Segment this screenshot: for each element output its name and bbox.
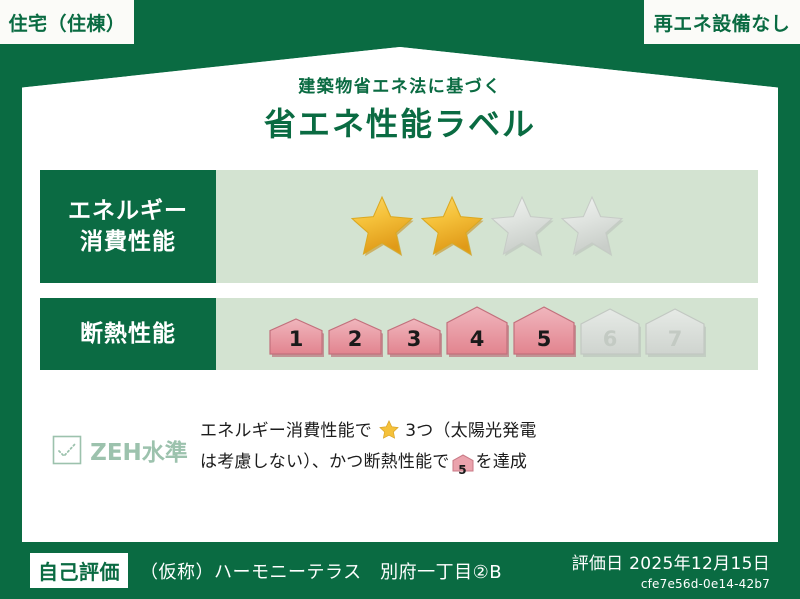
zeh-standard-marker: ZEH水準 <box>40 433 200 467</box>
evaluation-type-badge: 自己評価 <box>30 553 128 588</box>
star-empty-icon <box>558 194 626 259</box>
label-title: 省エネ性能ラベル <box>0 99 800 145</box>
insulation-level-scale: 1234567 <box>268 305 706 363</box>
inline-house-badge: 5 <box>452 454 474 482</box>
energy-performance-value-cell <box>216 170 758 283</box>
insulation-level-7: 7 <box>644 307 706 361</box>
insulation-performance-label-cell: 断熱性能 <box>40 298 216 370</box>
star-rating <box>348 194 626 259</box>
desc-line1-b: 3つ（太陽光発電 <box>405 421 536 441</box>
star-empty-icon <box>488 194 556 259</box>
insulation-performance-value-cell: 1234567 <box>216 298 758 370</box>
insulation-level-3: 3 <box>386 317 442 361</box>
insulation-level-4: 4 <box>445 305 509 361</box>
project-name: （仮称）ハーモニーテラス 別府一丁目②B <box>140 558 502 584</box>
zeh-standard-label: ZEH水準 <box>90 433 188 467</box>
energy-label-line2: 消費性能 <box>80 227 176 257</box>
renewable-equipment-badge: 再エネ設備なし <box>644 0 800 44</box>
achievement-description: エネルギー消費性能で 3つ（太陽光発電 は考慮しない）、かつ断熱性能で 5 を達… <box>200 418 758 481</box>
energy-performance-label-cell: エネルギー 消費性能 <box>40 170 216 283</box>
achievement-info: ZEH水準 エネルギー消費性能で 3つ（太陽光発電 は考慮しない）、かつ断熱性能… <box>40 418 758 481</box>
insulation-level-1: 1 <box>268 317 324 361</box>
evaluation-id: cfe7e56d-0e14-42b7 <box>641 577 770 591</box>
inline-house-value: 5 <box>452 461 474 480</box>
energy-performance-row: エネルギー 消費性能 <box>40 170 758 283</box>
zeh-check-icon <box>52 435 82 465</box>
insulation-level-2: 2 <box>327 317 383 361</box>
footer-left: 自己評価 （仮称）ハーモニーテラス 別府一丁目②B <box>22 542 502 599</box>
footer-right: 評価日 2025年12月15日 cfe7e56d-0e14-42b7 <box>572 545 770 595</box>
inline-star-icon <box>373 424 404 444</box>
energy-label-line1: エネルギー <box>68 196 188 226</box>
energy-performance-label: 住宅（住棟） 再エネ設備なし 建築物省エネ法に基づく 省エネ性能ラベル エネルギ… <box>0 0 800 599</box>
evaluation-date: 評価日 2025年12月15日 <box>572 549 770 574</box>
star-filled-icon <box>348 194 416 259</box>
insulation-level-6: 6 <box>579 307 641 361</box>
star-filled-icon <box>418 194 486 259</box>
desc-line2-a: は考慮しない）、かつ断熱性能で <box>200 452 450 472</box>
desc-line1-a: エネルギー消費性能で <box>200 421 372 441</box>
insulation-label: 断熱性能 <box>80 319 176 349</box>
desc-line2-b: を達成 <box>476 452 528 472</box>
insulation-level-5: 5 <box>512 305 576 361</box>
label-subtitle: 建築物省エネ法に基づく <box>0 72 800 97</box>
building-type-badge: 住宅（住棟） <box>0 0 134 44</box>
insulation-performance-row: 断熱性能 1234567 <box>40 298 758 370</box>
